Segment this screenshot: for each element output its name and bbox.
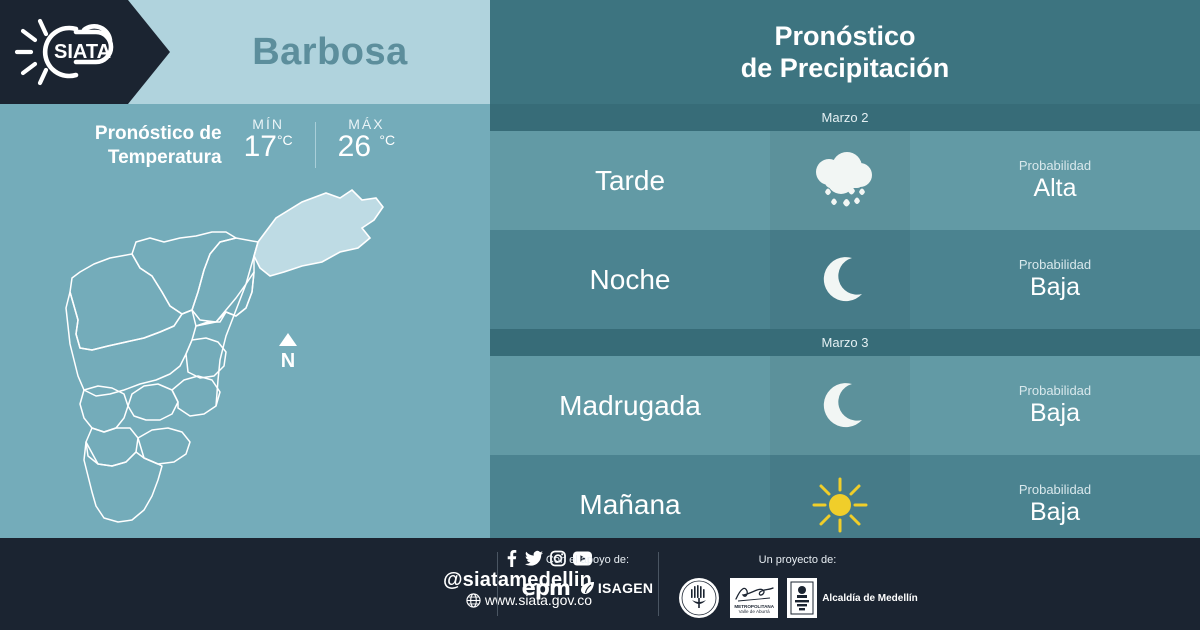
map-river-line [216,256,254,406]
forecast-title: Pronóstico de Precipitación [490,0,1200,104]
rain-cloud-icon [770,131,910,230]
probability-value: Alta [1033,174,1076,203]
isagen-wordmark: ISAGEN [598,580,653,596]
area-metropolitana-logo: METROPOLITANA Valle de Aburrá [730,578,778,618]
map-region-6 [128,384,178,420]
forecast-title-line2: de Precipitación [741,52,950,84]
date-band: Marzo 3 [490,329,1200,356]
area-script-icon [732,582,776,604]
probability-value: Baja [1030,399,1080,428]
footer-divider [658,552,659,616]
temperature-summary: Pronóstico de Temperatura MÍN 17°C MÁX 2… [0,116,490,188]
date-band: Marzo 2 [490,104,1200,131]
support-logos: epm ISAGEN [505,576,670,600]
map-region-barbosa [254,190,383,276]
footer: @siatamedellin www.siata.gov.co Con el a… [0,538,1200,630]
siata-logo-text: SIATA [54,41,111,63]
forecast-row[interactable]: Tarde Probabilidad Alta [490,131,1200,230]
forecast-panel: Pronóstico de Precipitación Marzo 2 Tard… [490,0,1200,538]
support-block: Con el apoyo de: epm ISAGEN [505,554,670,600]
temperature-title-line2: Temperatura [95,146,222,170]
map-region-10 [84,442,162,522]
forecast-probability: Probabilidad Baja [910,230,1200,329]
forecast-period: Noche [490,230,770,329]
project-logos: METROPOLITANA Valle de Aburrá Alcaldía d… [665,576,930,620]
temperature-divider [315,122,316,168]
valle-de-aburra-map [40,180,460,530]
forecast-period: Madrugada [490,356,770,455]
moon-icon [770,230,910,329]
forecast-title-line1: Pronóstico [774,20,915,52]
map-region-7 [172,376,220,416]
isagen-logo: ISAGEN [580,580,653,596]
temperature-title-line1: Pronóstico de [95,122,222,146]
map-region-3 [70,254,182,350]
sun-cloud-icon: SIATA [14,16,132,93]
probability-value: Baja [1030,273,1080,302]
project-block: Un proyecto de: [665,554,930,620]
epm-logo: epm [522,576,570,600]
forecast-period: Tarde [490,131,770,230]
temperature-min-value: 17°C [244,130,293,164]
forecast-row[interactable]: Madrugada Probabilidad Baja [490,356,1200,455]
temperature-min: MÍN 17°C [244,116,293,164]
north-arrow-icon: N [277,333,299,371]
udea-seal-icon [677,576,721,620]
forecast-row[interactable]: Noche Probabilidad Baja [490,230,1200,329]
alcaldia-crest-icon [789,580,815,616]
compass-label: N [277,352,299,371]
map-region-5 [80,386,128,432]
probability-label: Probabilidad [1019,257,1091,272]
alcaldia-logo: Alcaldía de Medellín [787,578,918,618]
temperature-max-value: 26 °C [338,130,395,164]
left-panel: SIATA Barbosa Pronóstico de Temperatura … [0,0,490,538]
map-region-4 [66,292,196,396]
probability-label: Probabilidad [1019,383,1091,398]
probability-label: Probabilidad [1019,482,1091,497]
map-region-8 [86,428,138,466]
moon-icon [770,356,910,455]
footer-divider [497,552,498,616]
alcaldia-label: Alcaldía de Medellín [822,593,918,604]
forecast-probability: Probabilidad Alta [910,131,1200,230]
area-line2: Valle de Aburrá [739,609,770,614]
globe-icon [466,593,481,608]
temperature-title: Pronóstico de Temperatura [95,116,222,170]
isagen-leaf-icon [580,581,595,595]
map-region-11 [196,272,254,326]
probability-value: Baja [1030,498,1080,527]
project-caption: Un proyecto de: [665,554,930,566]
temperature-max: MÁX 26 °C [338,116,395,164]
probability-label: Probabilidad [1019,158,1091,173]
page-title: Barbosa [170,0,490,104]
forecast-probability: Probabilidad Baja [910,356,1200,455]
support-caption: Con el apoyo de: [505,554,670,566]
